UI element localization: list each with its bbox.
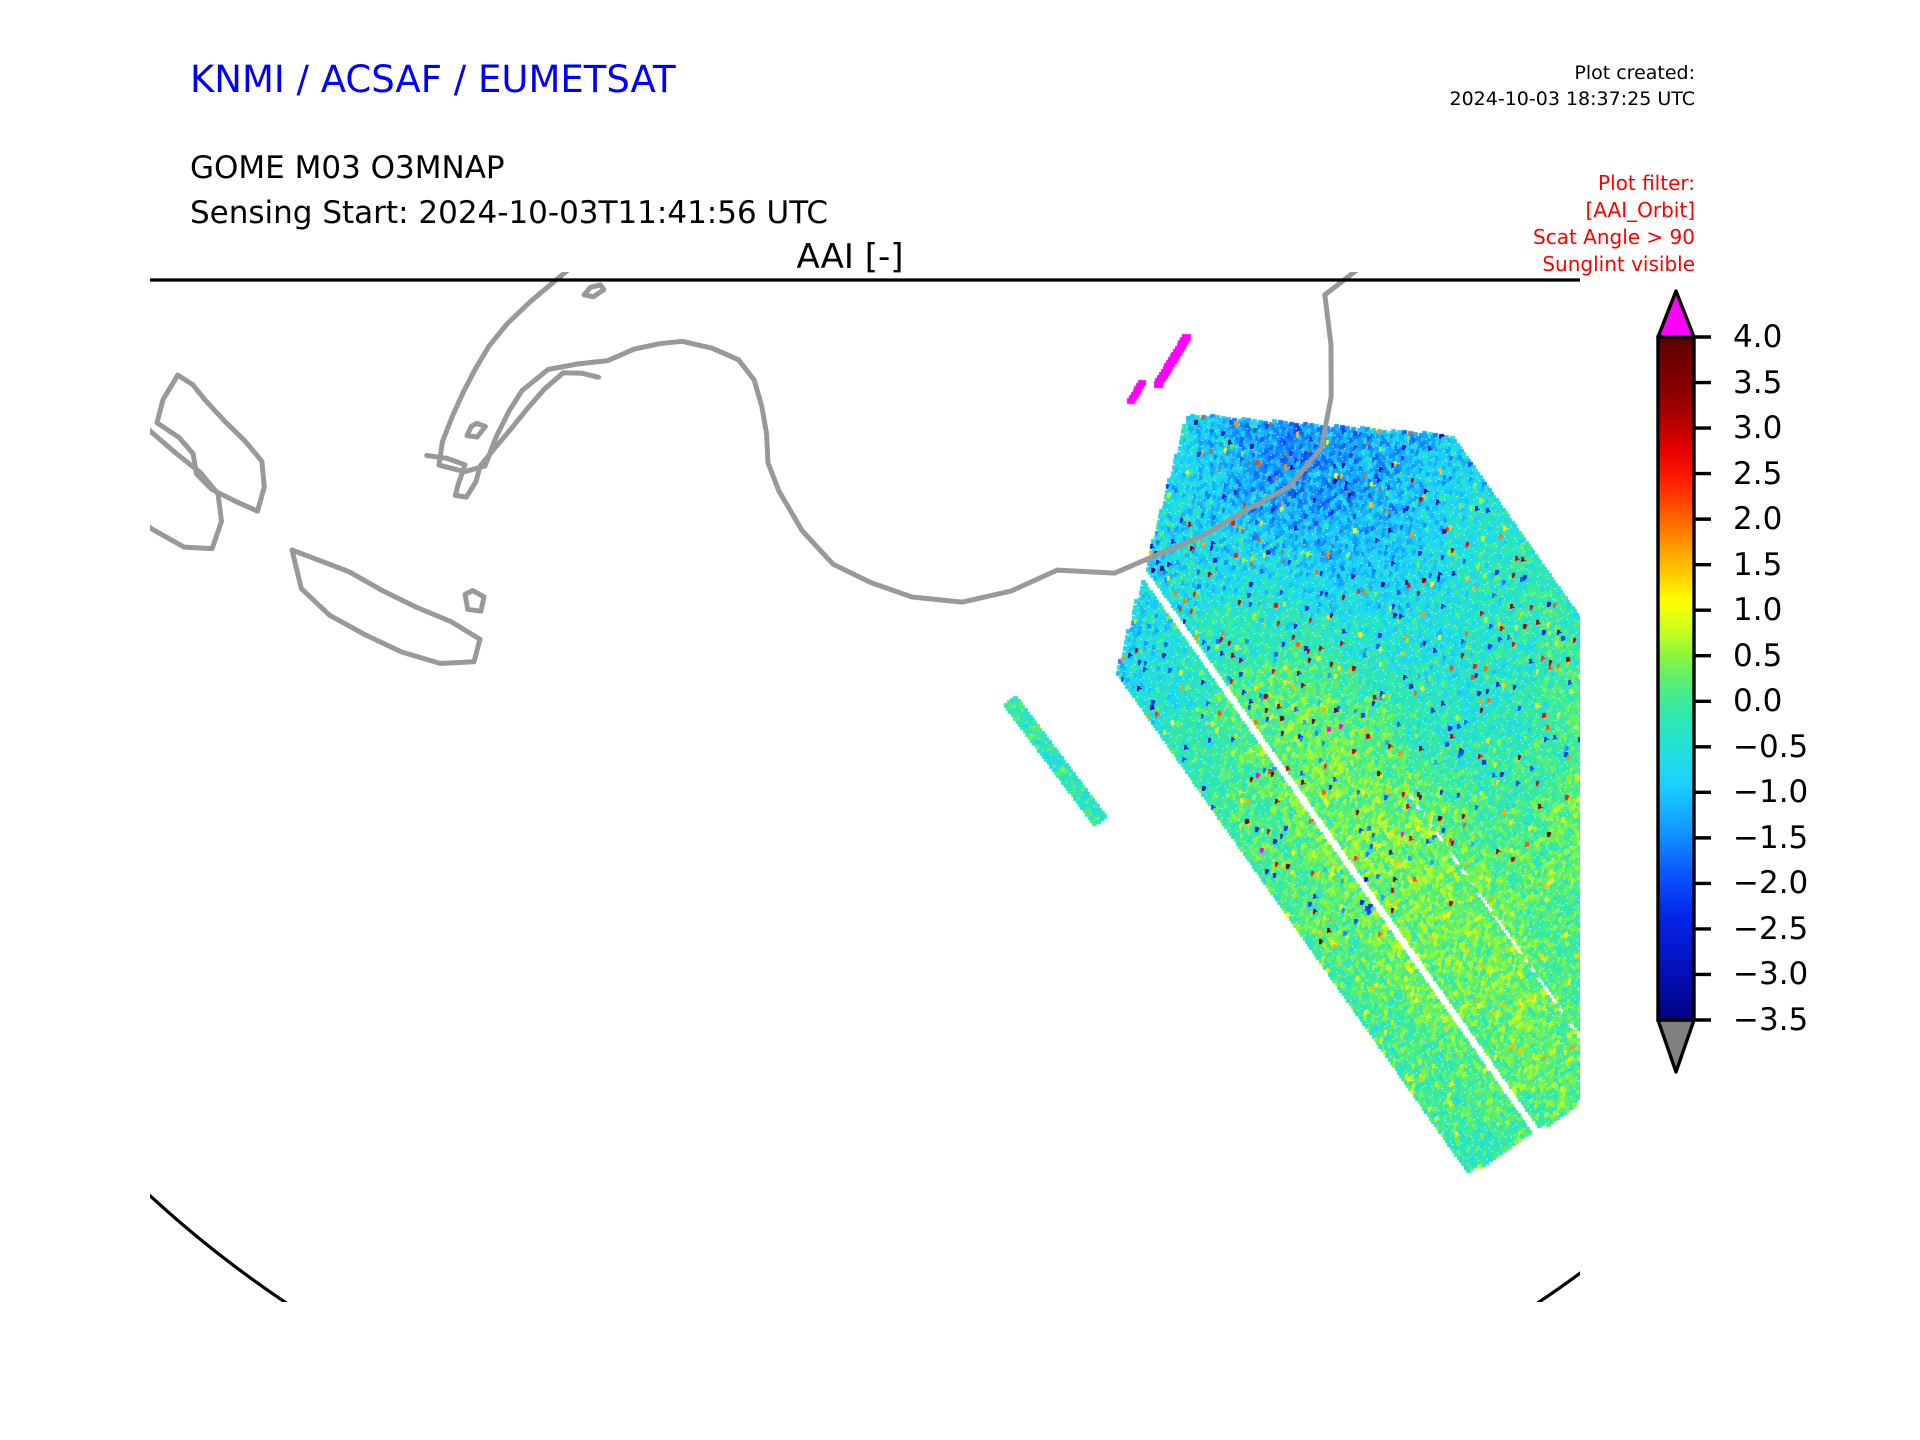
colorbar-under-arrow [1658,1020,1694,1072]
colorbar-tick-label: 3.5 [1733,365,1782,401]
colorbar-tick-label: −1.5 [1733,820,1808,856]
plot-created-label: Plot created: [1450,60,1696,86]
colorbar-tick-label: −2.0 [1733,865,1808,901]
plot-filter-label: Plot filter: [1533,170,1695,197]
coastline-path [584,285,604,297]
colorbar-tick-label: 1.5 [1733,547,1782,583]
colorbar-tick-label: 3.0 [1733,410,1782,446]
colorbar-tick-label: 2.5 [1733,456,1782,492]
coastline-path [465,591,484,612]
colorbar-area: 4.03.53.02.52.01.51.00.50.0−0.5−1.0−1.5−… [1640,280,1920,1100]
coastline-path [439,272,1394,602]
coastline-path [467,423,485,437]
colorbar-tick-label: 0.5 [1733,638,1782,674]
plot-created-value: 2024-10-03 18:37:25 UTC [1450,86,1696,112]
colorbar-tick-label: 0.0 [1733,683,1782,719]
plot-filter-product: [AAI_Orbit] [1533,197,1695,224]
plot-created-block: Plot created: 2024-10-03 18:37:25 UTC [1450,60,1696,112]
map-plot-area [150,272,1580,1302]
coastline-path [150,371,222,549]
map-overlay [150,272,1580,1302]
colorbar-over-arrow [1658,291,1694,337]
organisation-title: KNMI / ACSAF / EUMETSAT [190,58,676,101]
coastline-group [150,272,1394,663]
coastline-path [292,550,480,664]
colorbar-tick-label: −3.5 [1733,1002,1808,1038]
colorbar-tick-label: 1.0 [1733,592,1782,628]
page-title: AAI [-] [0,237,1700,277]
colorbar-tick-label: −2.5 [1733,911,1808,947]
coastline-path [427,373,599,497]
colorbar-tick-label: 4.0 [1733,319,1782,355]
colorbar-tick-label: −1.0 [1733,774,1808,810]
colorbar-tick-marks [1694,337,1711,1020]
plot-page: KNMI / ACSAF / EUMETSAT GOME M03 O3MNAP … [0,0,1920,1440]
colorbar-tick-label: 2.0 [1733,501,1782,537]
colorbar-tick-label: −3.0 [1733,956,1808,992]
sensing-start-line: Sensing Start: 2024-10-03T11:41:56 UTC [190,195,828,231]
instrument-product-line: GOME M03 O3MNAP [190,150,505,186]
colorbar-tick-label: −0.5 [1733,729,1808,765]
colorbar-gradient-body [1658,337,1694,1020]
map-boundary-circle [150,280,1580,1302]
coastline-path [157,375,264,511]
